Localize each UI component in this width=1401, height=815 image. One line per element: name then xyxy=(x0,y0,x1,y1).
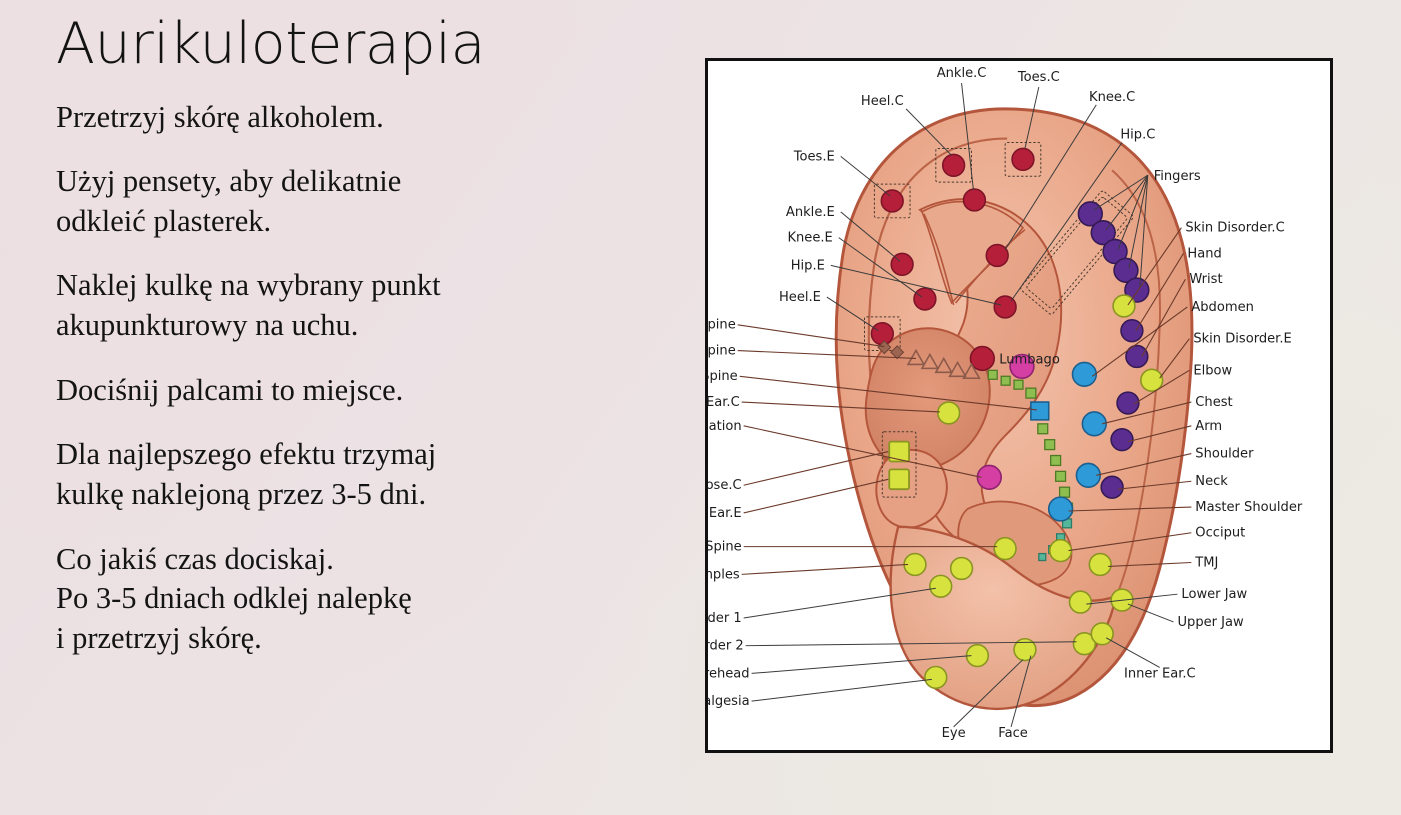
paragraph-line: Przetrzyj skórę alkoholem. xyxy=(56,98,616,138)
ear-acupuncture-diagram: Lumbago xyxy=(708,61,1330,750)
point-abdomen[interactable] xyxy=(1072,362,1096,386)
label-dental-analgesia: Dental Analgesia xyxy=(708,694,750,709)
label-muscle-relaxation: Muscle Relaxation xyxy=(708,419,742,434)
label-heel-c: Heel.C xyxy=(861,94,904,109)
label-forehead: Forehead xyxy=(708,666,750,681)
label-arm: Arm xyxy=(1195,419,1222,434)
label-elbow: Elbow xyxy=(1193,363,1232,378)
paragraph-line: kulkę naklejoną przez 3-5 dni. xyxy=(56,475,616,515)
spine-square[interactable] xyxy=(1026,388,1036,398)
point-neck[interactable] xyxy=(1101,476,1123,498)
label-inner-ear-c: Inner Ear.C xyxy=(1124,666,1196,681)
point-inner-ear-c[interactable] xyxy=(1091,623,1113,645)
spine-square[interactable] xyxy=(1001,376,1010,385)
instruction-paragraph-6: Co jakiś czas dociskaj. Po 3-5 dniach od… xyxy=(56,540,616,659)
point-temples-1[interactable] xyxy=(951,558,973,580)
label-hip-c: Hip.C xyxy=(1120,128,1155,143)
point-lumbago[interactable] xyxy=(970,347,994,371)
slide-canvas: Aurikuloterapia Przetrzyj skórę alkohole… xyxy=(0,0,1401,815)
label-neck: Neck xyxy=(1195,474,1228,489)
point-knee-c[interactable] xyxy=(986,245,1008,267)
point-inner-ear-e[interactable] xyxy=(889,469,909,489)
label-tmj: TMJ xyxy=(1194,555,1218,570)
instruction-paragraph-5: Dla najlepszego efektu trzymaj kulkę nak… xyxy=(56,435,616,514)
spine-square[interactable] xyxy=(1014,380,1023,389)
point-cervical-spine[interactable] xyxy=(994,538,1016,560)
label-chest: Chest xyxy=(1195,395,1232,410)
label-knee-c: Knee.C xyxy=(1089,90,1135,105)
spine-square[interactable] xyxy=(1060,487,1070,497)
label-ankle-e: Ankle.E xyxy=(786,205,835,220)
label-lumbar-spine: Lumbar Spine xyxy=(708,343,736,358)
spine-square[interactable] xyxy=(1045,440,1055,450)
label-heel-e: Heel.E xyxy=(779,290,821,305)
label-sacral-spine: Sacral Spine xyxy=(708,318,736,333)
inline-label-lumbago: Lumbago xyxy=(999,352,1060,367)
point-ankle-c[interactable] xyxy=(964,189,986,211)
label-abdomen: Abdomen xyxy=(1191,300,1254,315)
auricular-chart-frame: Lumbago xyxy=(705,58,1333,753)
paragraph-line: Naklej kulkę na wybrany punkt xyxy=(56,266,616,306)
label-eye-disorder-1: Eye Disorder 1 xyxy=(708,611,742,626)
label-hand: Hand xyxy=(1187,246,1221,261)
label-inner-nose-c: Inner Nose.C xyxy=(708,478,742,493)
label-external-ear-c: External Ear.C xyxy=(708,395,740,410)
label-temples: Temples xyxy=(708,567,740,582)
spine-square[interactable] xyxy=(1038,424,1048,434)
point-hand[interactable] xyxy=(1121,320,1143,342)
paragraph-line: Dociśnij palcami to miejsce. xyxy=(56,371,616,411)
point-occiput[interactable] xyxy=(1050,540,1072,562)
spine-square[interactable] xyxy=(1056,471,1066,481)
label-upper-jaw: Upper Jaw xyxy=(1177,615,1244,630)
paragraph-line: odkleić plasterek. xyxy=(56,202,616,242)
point-skin-disorder-e[interactable] xyxy=(1141,369,1163,391)
point-toes-e[interactable] xyxy=(881,190,903,212)
spine-square[interactable] xyxy=(1039,554,1046,561)
paragraph-line: Dla najlepszego efektu trzymaj xyxy=(56,435,616,475)
label-wrist: Wrist xyxy=(1189,272,1222,287)
label-skin-disorder-c: Skin Disorder.C xyxy=(1185,221,1284,236)
page-title: Aurikuloterapia xyxy=(56,14,656,76)
point-toes-c[interactable] xyxy=(1012,148,1034,170)
paragraph-line: akupunkturowy na uchu. xyxy=(56,306,616,346)
label-skin-disorder-e: Skin Disorder.E xyxy=(1193,332,1291,347)
point-master-shoulder[interactable] xyxy=(1049,497,1073,521)
label-master-shoulder: Master Shoulder xyxy=(1195,500,1303,515)
label-face: Face xyxy=(998,726,1028,741)
paragraph-line: i przetrzyj skórę. xyxy=(56,619,616,659)
instruction-paragraph-1: Przetrzyj skórę alkoholem. xyxy=(56,98,616,138)
point-eye-disorder-1[interactable] xyxy=(930,575,952,597)
label-lower-jaw: Lower Jaw xyxy=(1181,587,1247,602)
point-heel-e[interactable] xyxy=(871,323,893,345)
point-external-ear-c[interactable] xyxy=(938,402,960,424)
label-toes-c: Toes.C xyxy=(1017,70,1060,85)
instruction-paragraph-2: Użyj pensety, aby delikatnie odkleić pla… xyxy=(56,162,616,241)
instruction-paragraph-3: Naklej kulkę na wybrany punkt akupunktur… xyxy=(56,266,616,345)
paragraph-line: Po 3-5 dniach odklej nalepkę xyxy=(56,579,616,619)
point-heel-c[interactable] xyxy=(943,154,965,176)
point-dental-analgesia[interactable] xyxy=(925,666,947,688)
label-ankle-c: Ankle.C xyxy=(937,66,987,81)
spine-square[interactable] xyxy=(988,370,997,379)
point-knee-e[interactable] xyxy=(914,288,936,310)
instruction-paragraph-4: Dociśnij palcami to miejsce. xyxy=(56,371,616,411)
paragraph-line: Użyj pensety, aby delikatnie xyxy=(56,162,616,202)
label-thoracic-spine: Thoracic Spine xyxy=(708,369,738,384)
point-arm[interactable] xyxy=(1111,429,1133,451)
label-toes-e: Toes.E xyxy=(793,149,835,164)
spine-square-thoracic-major[interactable] xyxy=(1031,402,1049,420)
label-hip-e: Hip.E xyxy=(791,258,825,273)
instruction-text-column: Aurikuloterapia Przetrzyj skórę alkohole… xyxy=(56,14,656,684)
point-tmj[interactable] xyxy=(1089,554,1111,576)
label-fingers: Fingers xyxy=(1154,169,1201,184)
label-knee-e: Knee.E xyxy=(787,231,832,246)
paragraph-line: Co jakiś czas dociskaj. xyxy=(56,540,616,580)
point-lower-jaw[interactable] xyxy=(1070,591,1092,613)
tragus xyxy=(876,450,946,528)
label-eye-disorder-2: Eye Disorder 2 xyxy=(708,639,744,654)
spine-square[interactable] xyxy=(1051,456,1061,466)
label-shoulder: Shoulder xyxy=(1195,446,1254,461)
label-cervical-spine: Cervical Spine xyxy=(708,540,742,555)
label-occiput: Occiput xyxy=(1195,526,1245,541)
label-inner-ear-e: Inner Ear.E xyxy=(708,506,742,521)
point-skin-disorder-c[interactable] xyxy=(1113,295,1135,317)
label-eye: Eye xyxy=(942,726,966,741)
